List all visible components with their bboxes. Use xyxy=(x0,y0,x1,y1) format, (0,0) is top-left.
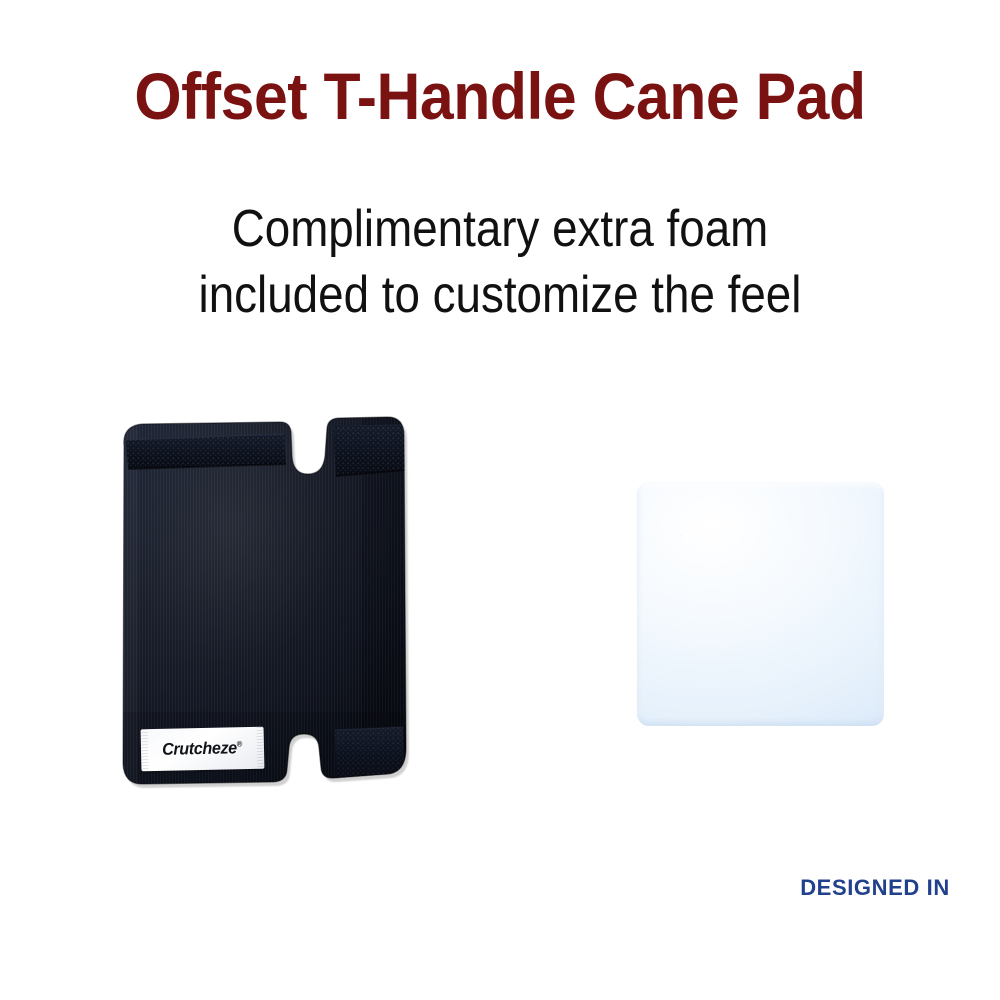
subtitle-block: Complimentary extra foam included to cus… xyxy=(60,196,940,328)
foam-insert-product-photo xyxy=(637,482,884,726)
badge-usa-wordmark xyxy=(764,893,986,965)
velcro-strap-top-left xyxy=(126,434,286,469)
velcro-strap-bottom-right xyxy=(335,727,404,779)
designed-in-usa-badge: DESIGNED IN xyxy=(764,872,986,976)
velcro-strap-top-right xyxy=(333,424,405,476)
foam-texture xyxy=(637,482,884,726)
brand-care-label: Crutcheze® xyxy=(141,727,265,772)
designed-in-usa-flag-icon: DESIGNED IN xyxy=(764,872,986,976)
cane-pad-product-photo: Crutcheze® xyxy=(112,412,412,794)
product-image-canvas: Offset T-Handle Cane Pad Complimentary e… xyxy=(0,0,1000,1000)
registered-trademark-icon: ® xyxy=(237,740,242,749)
brand-label-text: Crutcheze® xyxy=(162,738,242,760)
subtitle-line-1: Complimentary extra foam xyxy=(60,196,940,262)
badge-line-designed-in: DESIGNED IN xyxy=(800,875,950,900)
page-title: Offset T-Handle Cane Pad xyxy=(40,58,960,134)
subtitle-line-2: included to customize the feel xyxy=(60,262,940,328)
